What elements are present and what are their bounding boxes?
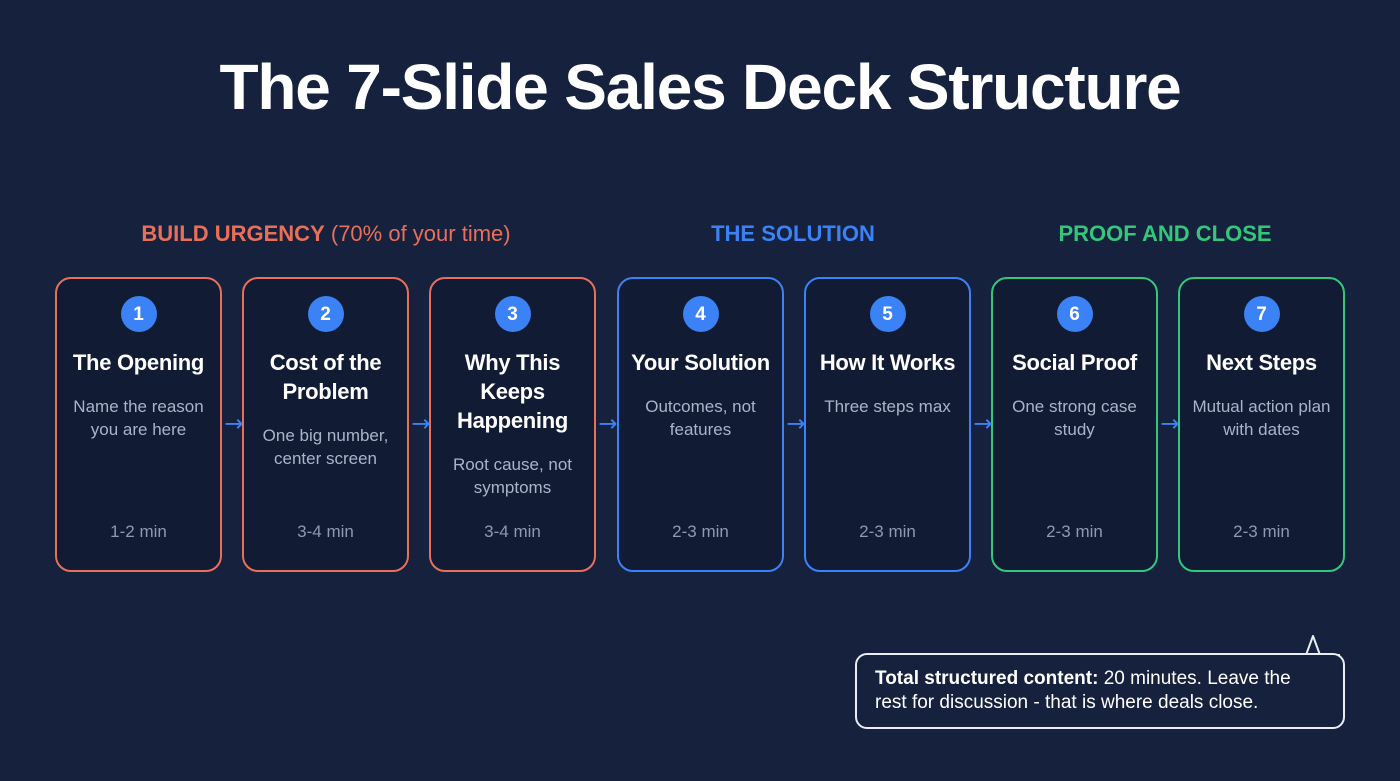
- slide-card-title: Social Proof: [1012, 348, 1137, 377]
- slide-card-4[interactable]: 4Your SolutionOutcomes, not features2-3 …: [617, 277, 784, 572]
- section-header-build-urgency: BUILD URGENCY (70% of your time): [55, 220, 597, 248]
- slide-card-duration: 2-3 min: [993, 521, 1156, 543]
- slide-number-badge: 3: [495, 296, 531, 332]
- slide-card-duration: 2-3 min: [1180, 521, 1343, 543]
- slide-card-description: One big number, center screen: [252, 424, 399, 470]
- page-title: The 7-Slide Sales Deck Structure: [0, 52, 1400, 124]
- section-header-strong: PROOF AND CLOSE: [1058, 221, 1271, 246]
- slide-card-description: Name the reason you are here: [65, 395, 212, 441]
- arrow-right-icon: →: [1158, 412, 1182, 436]
- callout-strong: Total structured content:: [875, 668, 1098, 689]
- slide-number-badge: 1: [121, 296, 157, 332]
- slide-card-title: How It Works: [820, 348, 955, 377]
- slide-card-title: Next Steps: [1206, 348, 1317, 377]
- slide-card-description: One strong case study: [1001, 395, 1148, 441]
- arrow-right-icon: →: [409, 412, 433, 436]
- slide-number-badge: 2: [308, 296, 344, 332]
- section-header-proof-and-close: PROOF AND CLOSE: [989, 220, 1341, 248]
- arrow-right-icon: →: [784, 412, 808, 436]
- slide-card-title: Cost of the Problem: [252, 348, 399, 406]
- slide-number-badge: 6: [1057, 296, 1093, 332]
- section-header-strong: THE SOLUTION: [711, 221, 875, 246]
- callout-text: Total structured content: 20 minutes. Le…: [875, 667, 1325, 715]
- section-header-strong: BUILD URGENCY: [141, 221, 324, 246]
- section-header-the-solution: THE SOLUTION: [617, 220, 969, 248]
- arrow-right-icon: →: [222, 412, 246, 436]
- slide-card-duration: 2-3 min: [619, 521, 782, 543]
- slide-number-badge: 5: [870, 296, 906, 332]
- slide-card-title: The Opening: [73, 348, 204, 377]
- slide-card-1[interactable]: 1The OpeningName the reason you are here…: [55, 277, 222, 572]
- infographic-canvas: The 7-Slide Sales Deck Structure BUILD U…: [0, 0, 1400, 781]
- slide-card-7[interactable]: 7Next StepsMutual action plan with dates…: [1178, 277, 1345, 572]
- slide-number-badge: 4: [683, 296, 719, 332]
- slide-card-2[interactable]: 2Cost of the ProblemOne big number, cent…: [242, 277, 409, 572]
- slide-card-description: Three steps max: [824, 395, 951, 418]
- slide-card-duration: 1-2 min: [57, 521, 220, 543]
- slide-card-description: Mutual action plan with dates: [1188, 395, 1335, 441]
- slide-card-duration: 2-3 min: [806, 521, 969, 543]
- arrow-right-icon: →: [971, 412, 995, 436]
- callout-box: Total structured content: 20 minutes. Le…: [855, 653, 1345, 729]
- slide-card-title: Why This Keeps Happening: [439, 348, 586, 435]
- slide-card-title: Your Solution: [631, 348, 770, 377]
- slide-number-badge: 7: [1244, 296, 1280, 332]
- slide-card-6[interactable]: 6Social ProofOne strong case study2-3 mi…: [991, 277, 1158, 572]
- section-header-rest: (70% of your time): [325, 221, 511, 246]
- slide-card-5[interactable]: 5How It WorksThree steps max2-3 min: [804, 277, 971, 572]
- slide-card-3[interactable]: 3Why This Keeps HappeningRoot cause, not…: [429, 277, 596, 572]
- slide-card-row: 1The OpeningName the reason you are here…: [55, 277, 1345, 574]
- slide-card-description: Root cause, not symptoms: [439, 453, 586, 499]
- slide-card-duration: 3-4 min: [431, 521, 594, 543]
- slide-card-duration: 3-4 min: [244, 521, 407, 543]
- slide-card-description: Outcomes, not features: [627, 395, 774, 441]
- arrow-right-icon: →: [596, 412, 620, 436]
